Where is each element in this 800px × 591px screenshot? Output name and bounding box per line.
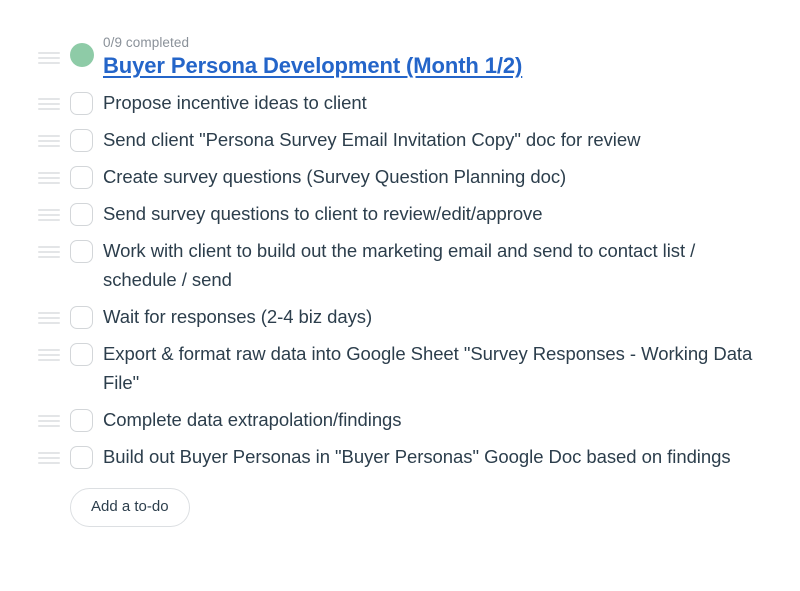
- drag-handle-bar: [38, 312, 60, 314]
- drag-handle-icon[interactable]: [38, 335, 60, 361]
- group-status-dot: [70, 43, 94, 67]
- drag-handle-bar: [38, 135, 60, 137]
- drag-handle-bar: [38, 103, 60, 105]
- todo-checkbox[interactable]: [70, 240, 93, 263]
- drag-handle-icon[interactable]: [38, 438, 60, 464]
- drag-handle-bar: [38, 98, 60, 100]
- drag-handle-bar: [38, 52, 60, 54]
- add-todo-row: Add a to-do: [0, 488, 800, 527]
- todo-checkbox[interactable]: [70, 166, 93, 189]
- drag-handle-icon[interactable]: [38, 232, 60, 258]
- drag-handle-bar: [38, 145, 60, 147]
- drag-handle-bar: [38, 457, 60, 459]
- drag-handle-bar: [38, 251, 60, 253]
- drag-handle-bar: [38, 177, 60, 179]
- drag-handle-bar: [38, 317, 60, 319]
- todo-item: Send client "Persona Survey Email Invita…: [0, 121, 800, 158]
- todo-label[interactable]: Propose incentive ideas to client: [103, 84, 770, 121]
- drag-handle-bar: [38, 420, 60, 422]
- todo-checkbox[interactable]: [70, 92, 93, 115]
- todo-item: Build out Buyer Personas in "Buyer Perso…: [0, 438, 800, 475]
- drag-handle-bar: [38, 246, 60, 248]
- todo-group-header: 0/9 completed Buyer Persona Development …: [0, 34, 800, 80]
- drag-handle-icon[interactable]: [38, 121, 60, 147]
- drag-handle-bar: [38, 172, 60, 174]
- todo-list: 0/9 completed Buyer Persona Development …: [0, 0, 800, 527]
- drag-handle-icon[interactable]: [38, 84, 60, 110]
- todo-label[interactable]: Complete data extrapolation/findings: [103, 401, 770, 438]
- todo-label[interactable]: Build out Buyer Personas in "Buyer Perso…: [103, 438, 770, 475]
- drag-handle-bar: [38, 214, 60, 216]
- todo-item: Create survey questions (Survey Question…: [0, 158, 800, 195]
- drag-handle-bar: [38, 209, 60, 211]
- todo-label[interactable]: Send survey questions to client to revie…: [103, 195, 770, 232]
- todo-item: Send survey questions to client to revie…: [0, 195, 800, 232]
- drag-handle-bar: [38, 256, 60, 258]
- drag-handle-bar: [38, 349, 60, 351]
- drag-handle-bar: [38, 182, 60, 184]
- drag-handle-icon[interactable]: [38, 34, 60, 64]
- todo-item: Wait for responses (2-4 biz days): [0, 298, 800, 335]
- drag-handle-icon[interactable]: [38, 195, 60, 221]
- group-header-content: 0/9 completed Buyer Persona Development …: [103, 34, 770, 80]
- todo-checkbox[interactable]: [70, 203, 93, 226]
- todo-checkbox[interactable]: [70, 306, 93, 329]
- drag-handle-bar: [38, 354, 60, 356]
- drag-handle-bar: [38, 57, 60, 59]
- drag-handle-bar: [38, 62, 60, 64]
- drag-handle-bar: [38, 452, 60, 454]
- todo-checkbox[interactable]: [70, 409, 93, 432]
- drag-handle-bar: [38, 425, 60, 427]
- drag-handle-bar: [38, 415, 60, 417]
- todo-label[interactable]: Export & format raw data into Google She…: [103, 335, 770, 401]
- todo-label[interactable]: Work with client to build out the market…: [103, 232, 770, 298]
- drag-handle-bar: [38, 322, 60, 324]
- group-title-link[interactable]: Buyer Persona Development (Month 1/2): [103, 53, 522, 78]
- todo-label[interactable]: Send client "Persona Survey Email Invita…: [103, 121, 770, 158]
- todo-checkbox[interactable]: [70, 129, 93, 152]
- drag-handle-icon[interactable]: [38, 401, 60, 427]
- drag-handle-bar: [38, 140, 60, 142]
- drag-handle-icon[interactable]: [38, 298, 60, 324]
- todo-items-container: Propose incentive ideas to clientSend cl…: [0, 84, 800, 475]
- drag-handle-bar: [38, 108, 60, 110]
- todo-item: Complete data extrapolation/findings: [0, 401, 800, 438]
- drag-handle-bar: [38, 219, 60, 221]
- todo-item: Work with client to build out the market…: [0, 232, 800, 298]
- todo-checkbox[interactable]: [70, 343, 93, 366]
- todo-checkbox[interactable]: [70, 446, 93, 469]
- todo-label[interactable]: Wait for responses (2-4 biz days): [103, 298, 770, 335]
- todo-item: Export & format raw data into Google She…: [0, 335, 800, 401]
- drag-handle-bar: [38, 359, 60, 361]
- drag-handle-bar: [38, 462, 60, 464]
- todo-label[interactable]: Create survey questions (Survey Question…: [103, 158, 770, 195]
- todo-item: Propose incentive ideas to client: [0, 84, 800, 121]
- drag-handle-icon[interactable]: [38, 158, 60, 184]
- completed-count: 0/9 completed: [103, 34, 770, 51]
- add-todo-button[interactable]: Add a to-do: [70, 488, 190, 527]
